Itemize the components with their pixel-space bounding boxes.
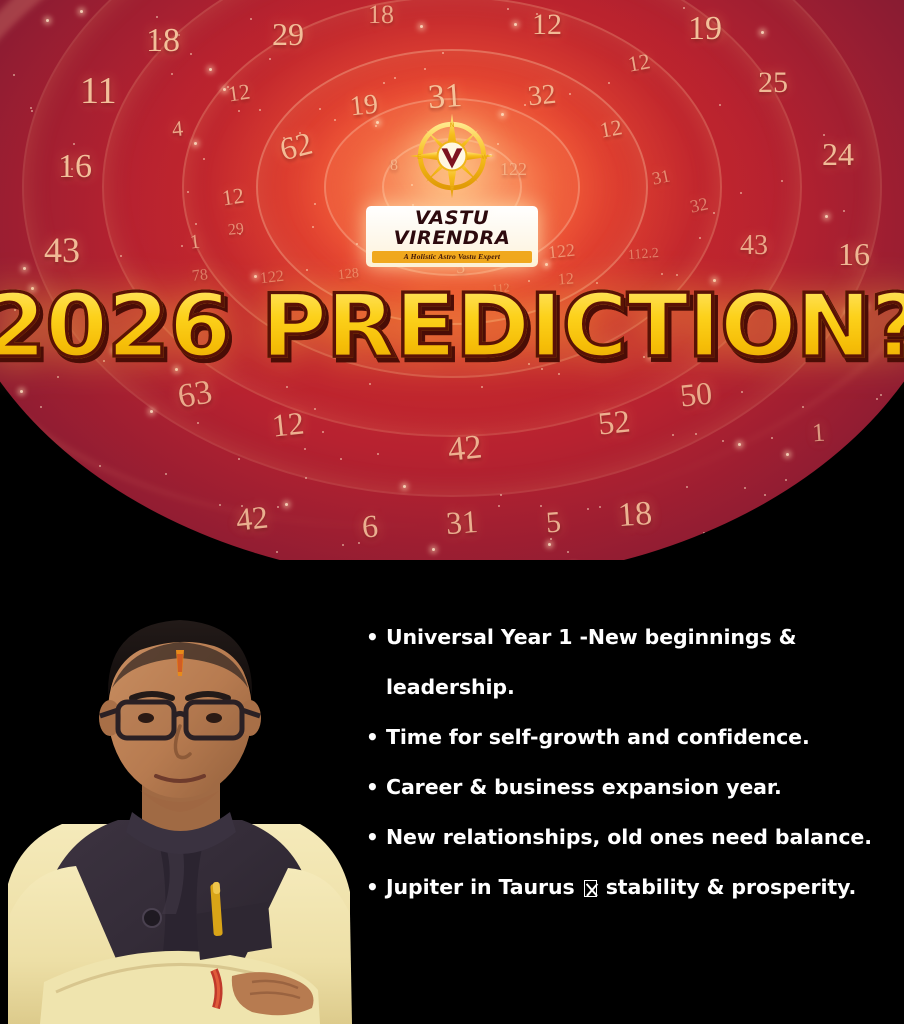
background-number: 63 [175, 375, 214, 414]
background-number: 19 [688, 12, 722, 46]
star-sparkle [786, 453, 789, 456]
logo-tagline-bar: A Holistic Astro Vastu Expert [372, 251, 532, 263]
background-number: 24 [822, 138, 854, 170]
star-sparkle [876, 398, 878, 400]
list-item: • Career & business expansion year. [366, 762, 890, 812]
star-sparkle [334, 119, 336, 121]
background-number: 29 [272, 18, 304, 50]
brand-logo: N S E W VASTU VIRENDRA A Holistic Astro … [357, 108, 547, 267]
background-number: 1 [811, 420, 826, 447]
prediction-bullet-list: • Universal Year 1 -New beginnings & lea… [366, 612, 890, 912]
star-sparkle [703, 532, 705, 534]
star-sparkle [771, 437, 773, 439]
background-number: 32 [688, 194, 709, 215]
star-sparkle [829, 479, 831, 481]
star-sparkle [276, 551, 278, 553]
list-item-label-after: stability & prosperity. [599, 875, 857, 899]
star-sparkle [237, 554, 239, 556]
background-number: 50 [678, 376, 713, 411]
star-sparkle [500, 494, 502, 496]
star-sparkle [738, 443, 741, 446]
star-sparkle [383, 82, 385, 84]
list-item: • Jupiter in Taurus stability & prosperi… [366, 862, 890, 912]
background-number: 12 [227, 81, 252, 106]
logo-nameplate: VASTU VIRENDRA A Holistic Astro Vastu Ex… [366, 206, 538, 267]
star-sparkle [312, 226, 314, 228]
star-sparkle [358, 542, 360, 544]
background-number: 18 [146, 24, 180, 58]
star-sparkle [94, 545, 96, 547]
logo-tagline: A Holistic Astro Vastu Expert [372, 252, 532, 261]
star-sparkle [744, 487, 746, 489]
star-sparkle [11, 535, 13, 537]
star-sparkle [305, 477, 307, 479]
background-number: 43 [44, 232, 80, 268]
background-number: 12 [532, 10, 562, 40]
list-item-label: Career & business expansion year. [386, 762, 890, 812]
list-item-label: Universal Year 1 -New beginnings & leade… [386, 612, 890, 712]
background-number: 16 [838, 238, 870, 270]
star-sparkle [741, 391, 743, 393]
star-sparkle [171, 73, 173, 75]
page-title: 2026 PREDICTION? [0, 292, 904, 364]
star-sparkle [197, 422, 199, 424]
star-sparkle [524, 104, 526, 106]
star-sparkle [40, 406, 42, 408]
background-number: 18 [617, 497, 653, 533]
background-number: 31 [650, 166, 671, 187]
bullet-dot-icon: • [366, 762, 386, 812]
compass-label-west: W [481, 154, 488, 161]
background-number: 43 [740, 232, 768, 260]
star-sparkle [599, 506, 601, 508]
presenter-portrait [0, 584, 360, 1024]
star-sparkle [195, 223, 197, 225]
compass-label-south: S [450, 186, 455, 193]
star-sparkle [683, 7, 685, 9]
star-sparkle [306, 269, 308, 271]
star-sparkle [269, 58, 271, 60]
star-sparkle [608, 82, 610, 84]
star-sparkle [181, 245, 183, 247]
star-sparkle [238, 110, 240, 112]
star-sparkle [825, 215, 828, 218]
background-number: 31 [445, 505, 479, 539]
bullet-dot-icon: • [366, 862, 386, 912]
star-sparkle [220, 553, 222, 555]
page-title-text: 2026 PREDICTION? [0, 288, 904, 368]
list-item: • Universal Year 1 -New beginnings & lea… [366, 612, 890, 712]
star-sparkle [686, 486, 688, 488]
background-number: 4 [171, 117, 184, 140]
star-sparkle [342, 544, 344, 546]
star-sparkle [713, 212, 715, 214]
background-number: 18 [368, 2, 394, 28]
background-number: 29 [227, 221, 245, 239]
list-item-label: Jupiter in Taurus stability & prosperity… [386, 862, 890, 912]
star-sparkle [13, 74, 15, 76]
background-number: 5 [545, 508, 562, 539]
background-number: 12 [270, 406, 305, 441]
background-number: 12 [221, 185, 246, 210]
bullet-dot-icon: • [366, 812, 386, 862]
background-number: 32 [527, 81, 558, 112]
star-sparkle [893, 453, 895, 455]
compass-label-east: E [417, 154, 422, 161]
star-sparkle [672, 434, 674, 436]
background-number: 6 [361, 509, 379, 542]
background-number: 122 [547, 241, 576, 262]
star-sparkle [403, 485, 406, 488]
background-number: 52 [596, 404, 631, 439]
star-sparkle [155, 520, 157, 522]
star-sparkle [394, 77, 396, 79]
star-sparkle [285, 503, 288, 506]
bullet-dot-icon: • [366, 712, 386, 762]
bullet-dot-icon: • [366, 612, 386, 662]
background-number: 42 [446, 430, 483, 467]
star-sparkle [587, 508, 589, 510]
background-number: 25 [758, 68, 788, 98]
star-sparkle [569, 93, 571, 95]
star-sparkle [97, 504, 99, 506]
compass-label-north: N [450, 122, 455, 129]
background-number: 112.2 [628, 247, 660, 263]
list-item: • New relationships, old ones need balan… [366, 812, 890, 862]
missing-glyph-icon [584, 880, 597, 897]
star-sparkle [99, 465, 101, 467]
list-item-label-before: Jupiter in Taurus [386, 875, 582, 899]
star-sparkle [880, 394, 882, 396]
background-number: 12 [598, 116, 623, 141]
background-number: 42 [234, 500, 269, 535]
star-sparkle [843, 210, 845, 212]
star-sparkle [802, 406, 804, 408]
background-number: 16 [58, 150, 92, 184]
star-sparkle [567, 551, 569, 553]
background-number: 11 [80, 72, 117, 110]
star-sparkle [432, 548, 435, 551]
list-item-label: New relationships, old ones need balance… [386, 812, 890, 862]
list-item-label: Time for self-growth and confidence. [386, 712, 890, 762]
star-sparkle [764, 494, 766, 496]
star-sparkle [369, 383, 371, 385]
star-sparkle [18, 489, 20, 491]
list-item: • Time for self-growth and confidence. [366, 712, 890, 762]
star-sparkle [540, 505, 542, 507]
compass-rose-icon: N S E W [404, 108, 500, 204]
logo-brand-name: VASTU VIRENDRA [370, 209, 533, 249]
background-number: 1 [189, 232, 201, 253]
star-sparkle [286, 386, 288, 388]
star-sparkle [507, 8, 509, 10]
star-sparkle [31, 110, 33, 112]
star-sparkle [699, 237, 701, 239]
background-number: 12 [626, 50, 651, 75]
star-sparkle [23, 267, 26, 270]
star-sparkle [785, 479, 787, 481]
star-sparkle [88, 523, 90, 525]
star-sparkle [771, 524, 773, 526]
star-sparkle [319, 108, 321, 110]
star-sparkle [548, 543, 551, 546]
